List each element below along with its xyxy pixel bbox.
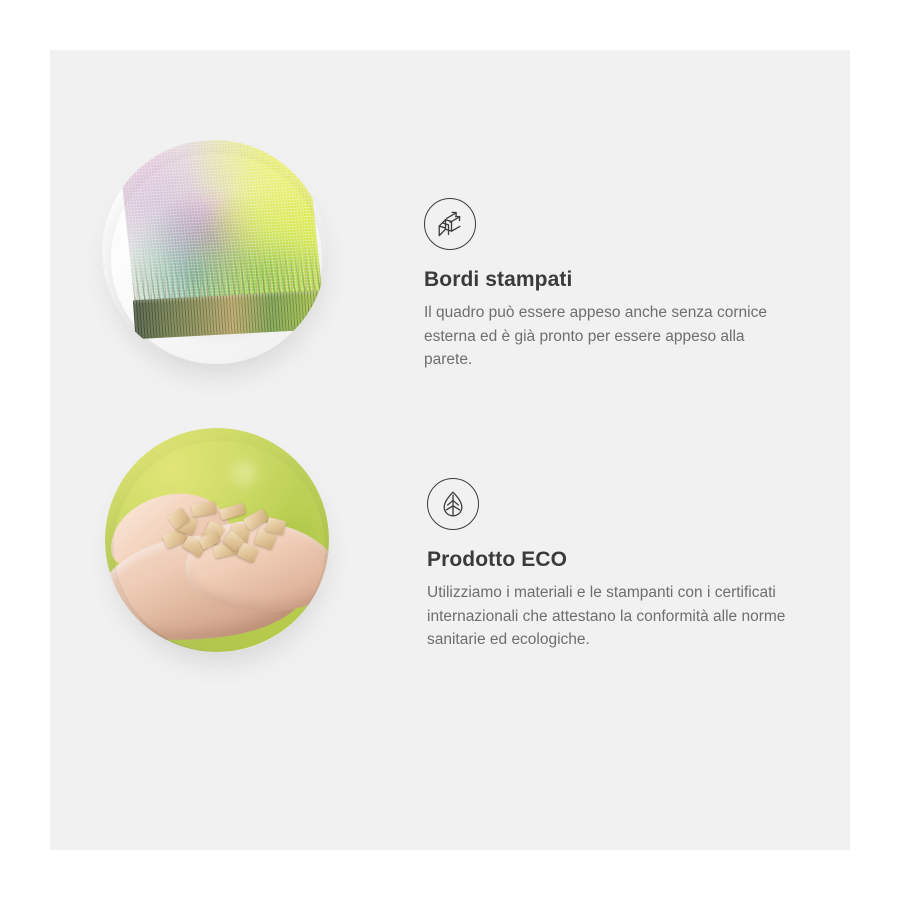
photo-drop-shadow <box>114 441 325 652</box>
product-feature-infographic: Bordi stampati Il quadro può essere appe… <box>0 0 900 900</box>
printed-edges-icon <box>424 198 476 250</box>
leaf-icon <box>427 478 479 530</box>
feature-body: Utilizziamo i materiali e le stampanti c… <box>427 581 789 652</box>
feature-title: Bordi stampati <box>424 267 796 292</box>
canvas-corner-photo <box>102 140 326 364</box>
feature-body: Il quadro può essere appeso anche senza … <box>424 301 786 372</box>
photo-drop-shadow <box>111 153 322 364</box>
feature-title: Prodotto ECO <box>427 547 799 572</box>
feature-text-printed-edges: Bordi stampati Il quadro può essere appe… <box>424 198 796 372</box>
feature-text-eco-product: Prodotto ECO Utilizziamo i materiali e l… <box>427 478 799 652</box>
eco-wood-chips-photo <box>105 428 329 652</box>
